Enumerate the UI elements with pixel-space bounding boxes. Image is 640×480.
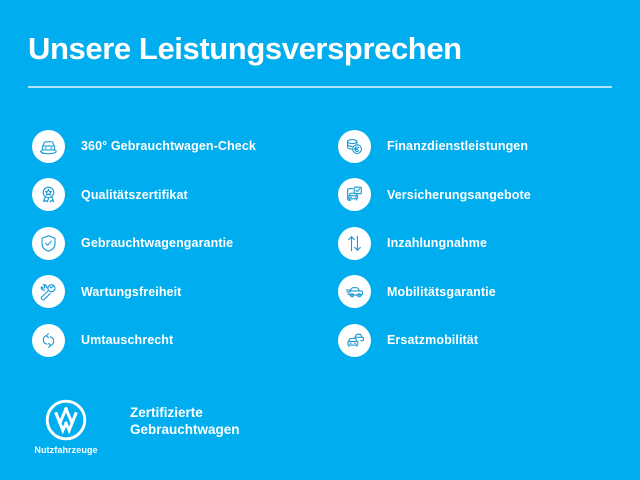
up-down-arrows-icon <box>338 227 371 260</box>
coins-euro-icon <box>338 130 371 163</box>
volkswagen-logo: Nutzfahrzeuge <box>30 398 102 455</box>
title-divider <box>28 86 612 88</box>
feature-item[interactable]: Versicherungsangebote <box>338 171 620 220</box>
feature-item[interactable]: Inzahlungnahme <box>338 219 620 268</box>
car-360-check-icon <box>32 130 65 163</box>
footer-claim: Zertifizierte Gebrauchtwagen <box>130 404 240 438</box>
wrench-check-icon <box>32 275 65 308</box>
footer-claim-line-2: Gebrauchtwagen <box>130 421 240 438</box>
award-rosette-icon <box>32 178 65 211</box>
features-column-right: Finanzdienstleistungen Versicherungsange… <box>330 122 620 365</box>
feature-item[interactable]: Ersatzmobilität <box>338 316 620 365</box>
logo-subtitle: Nutzfahrzeuge <box>34 445 97 455</box>
feature-label: Inzahlungnahme <box>387 236 487 250</box>
feature-label: Finanzdienstleistungen <box>387 139 528 153</box>
slide-root: Unsere Leistungsversprechen 360° Gebrauc… <box>0 0 640 480</box>
tow-van-icon <box>338 275 371 308</box>
features-section: 360° Gebrauchtwagen-Check Qualitätszerti… <box>0 122 640 365</box>
feature-label: Ersatzmobilität <box>387 333 478 347</box>
feature-item[interactable]: Gebrauchtwagengarantie <box>32 219 330 268</box>
page-title: Unsere Leistungsversprechen <box>28 31 462 67</box>
feature-item[interactable]: Umtauschrecht <box>32 316 330 365</box>
footer: Nutzfahrzeuge Zertifizierte Gebrauchtwag… <box>30 398 240 455</box>
feature-item[interactable]: Finanzdienstleistungen <box>338 122 620 171</box>
footer-claim-line-1: Zertifizierte <box>130 404 240 421</box>
feature-label: Qualitätszertifikat <box>81 188 188 202</box>
feature-label: Mobilitätsgarantie <box>387 285 496 299</box>
two-cars-icon <box>338 324 371 357</box>
features-column-left: 360° Gebrauchtwagen-Check Qualitätszerti… <box>0 122 330 365</box>
feature-item[interactable]: Qualitätszertifikat <box>32 171 330 220</box>
feature-item[interactable]: 360° Gebrauchtwagen-Check <box>32 122 330 171</box>
car-document-check-icon <box>338 178 371 211</box>
feature-label: 360° Gebrauchtwagen-Check <box>81 139 256 153</box>
shield-check-icon <box>32 227 65 260</box>
feature-label: Versicherungsangebote <box>387 188 531 202</box>
vw-roundel-icon <box>44 398 88 442</box>
feature-label: Umtauschrecht <box>81 333 173 347</box>
feature-item[interactable]: Mobilitätsgarantie <box>338 268 620 317</box>
feature-label: Gebrauchtwagengarantie <box>81 236 233 250</box>
feature-label: Wartungsfreiheit <box>81 285 181 299</box>
exchange-arrows-icon <box>32 324 65 357</box>
feature-item[interactable]: Wartungsfreiheit <box>32 268 330 317</box>
